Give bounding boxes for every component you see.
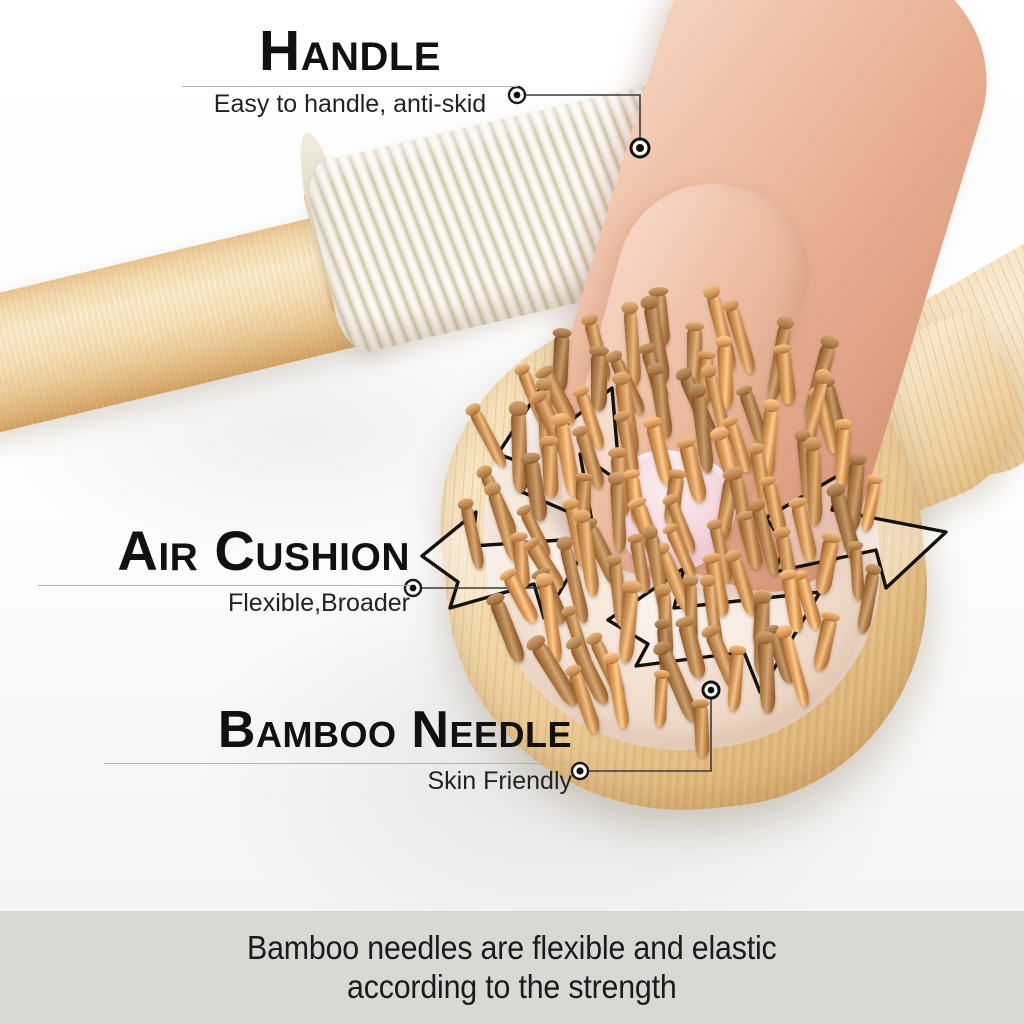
callout-handle-heading: Handle xyxy=(182,24,518,79)
bamboo-needle xyxy=(541,441,558,498)
leader-handle xyxy=(524,95,640,142)
callout-handle: Handle Easy to handle, anti-skid xyxy=(182,24,518,119)
callout-bamboo-needle-subtitle: Skin Friendly xyxy=(104,767,572,796)
caption-line-1: Bamboo needles are flexible and elastic xyxy=(247,929,777,966)
bamboo-needle xyxy=(694,703,711,757)
callout-bamboo-needle-divider xyxy=(104,763,572,764)
callout-air-cushion-heading: Air Cushion xyxy=(38,524,410,578)
callout-bamboo-needle: Bamboo Needle Skin Friendly xyxy=(104,706,572,796)
infographic-canvas: Handle Easy to handle, anti-skid Air Cus… xyxy=(0,0,1024,1024)
callout-air-cushion: Air Cushion Flexible,Broader xyxy=(38,524,410,618)
bamboo-needle xyxy=(591,352,607,411)
callout-handle-subtitle: Easy to handle, anti-skid xyxy=(182,90,518,119)
callout-handle-divider xyxy=(182,86,518,87)
callout-bamboo-needle-heading: Bamboo Needle xyxy=(104,706,572,756)
callout-air-cushion-subtitle: Flexible,Broader xyxy=(38,589,410,618)
callout-air-cushion-divider xyxy=(38,585,410,586)
caption-text: Bamboo needles are flexible and elastic … xyxy=(247,929,777,1006)
caption-bar: Bamboo needles are flexible and elastic … xyxy=(0,911,1024,1024)
caption-line-2: according to the strength xyxy=(347,968,677,1005)
